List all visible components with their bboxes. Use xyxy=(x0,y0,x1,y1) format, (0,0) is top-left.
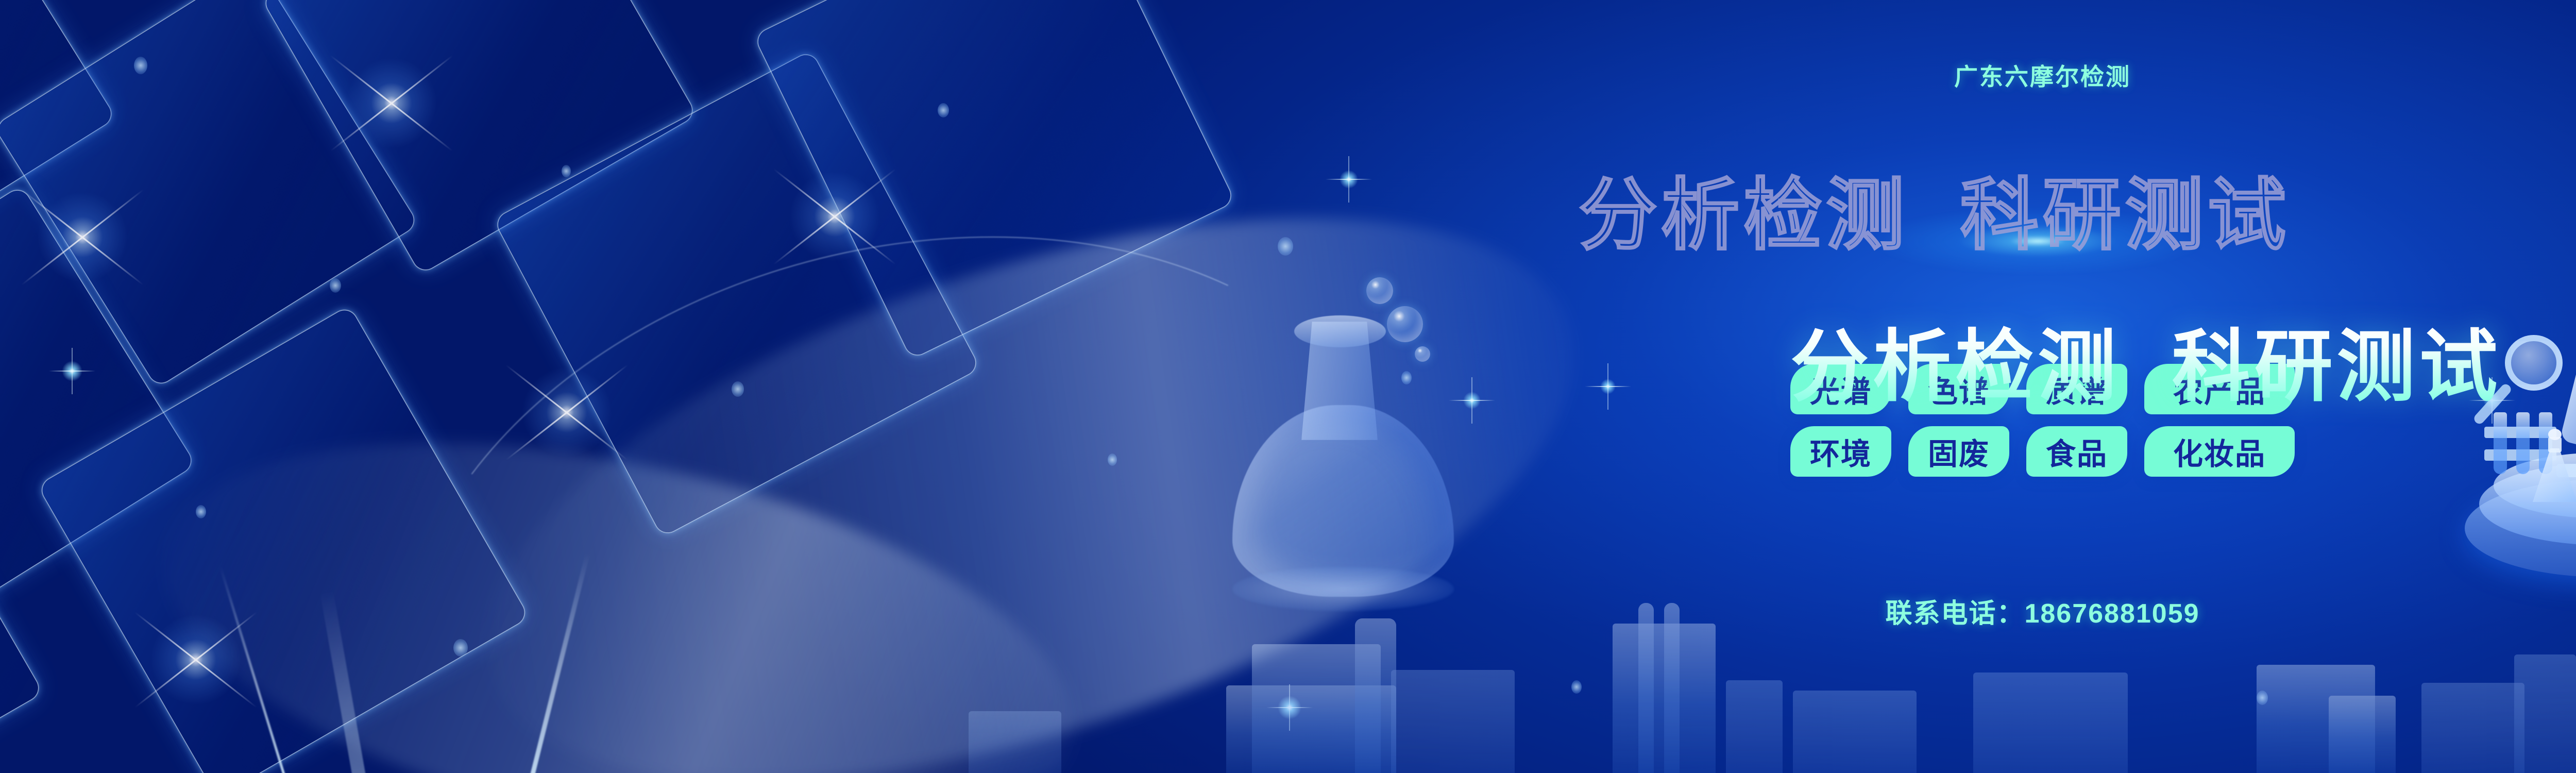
service-tag-huanjing[interactable]: 环境 xyxy=(1790,426,1891,477)
headline-wrapper: 分析检测 科研测试 分析检测 科研测试 xyxy=(0,171,2576,264)
service-tag-row: 环境 固废 食品 化妆品 xyxy=(0,426,2576,477)
contact-phone[interactable]: 联系电话：18676881059 xyxy=(0,592,2576,630)
service-tag-shipin[interactable]: 食品 xyxy=(2026,426,2127,477)
banner-content: 广东六摩尔检测 分析检测 科研测试 分析检测 科研测试 光谱 色谱 质谱 农产品… xyxy=(0,0,2576,773)
headline-shadow: 分析检测 科研测试 xyxy=(1579,176,2290,255)
promo-banner: 广东六摩尔检测 分析检测 科研测试 分析检测 科研测试 光谱 色谱 质谱 农产品… xyxy=(0,0,2576,773)
service-tag-huazhuangpin[interactable]: 化妆品 xyxy=(2144,426,2295,477)
headline-text: 分析检测 科研测试 xyxy=(1790,323,2501,411)
service-tag-gufei[interactable]: 固废 xyxy=(1908,426,2009,477)
company-name: 广东六摩尔检测 xyxy=(0,58,2576,92)
